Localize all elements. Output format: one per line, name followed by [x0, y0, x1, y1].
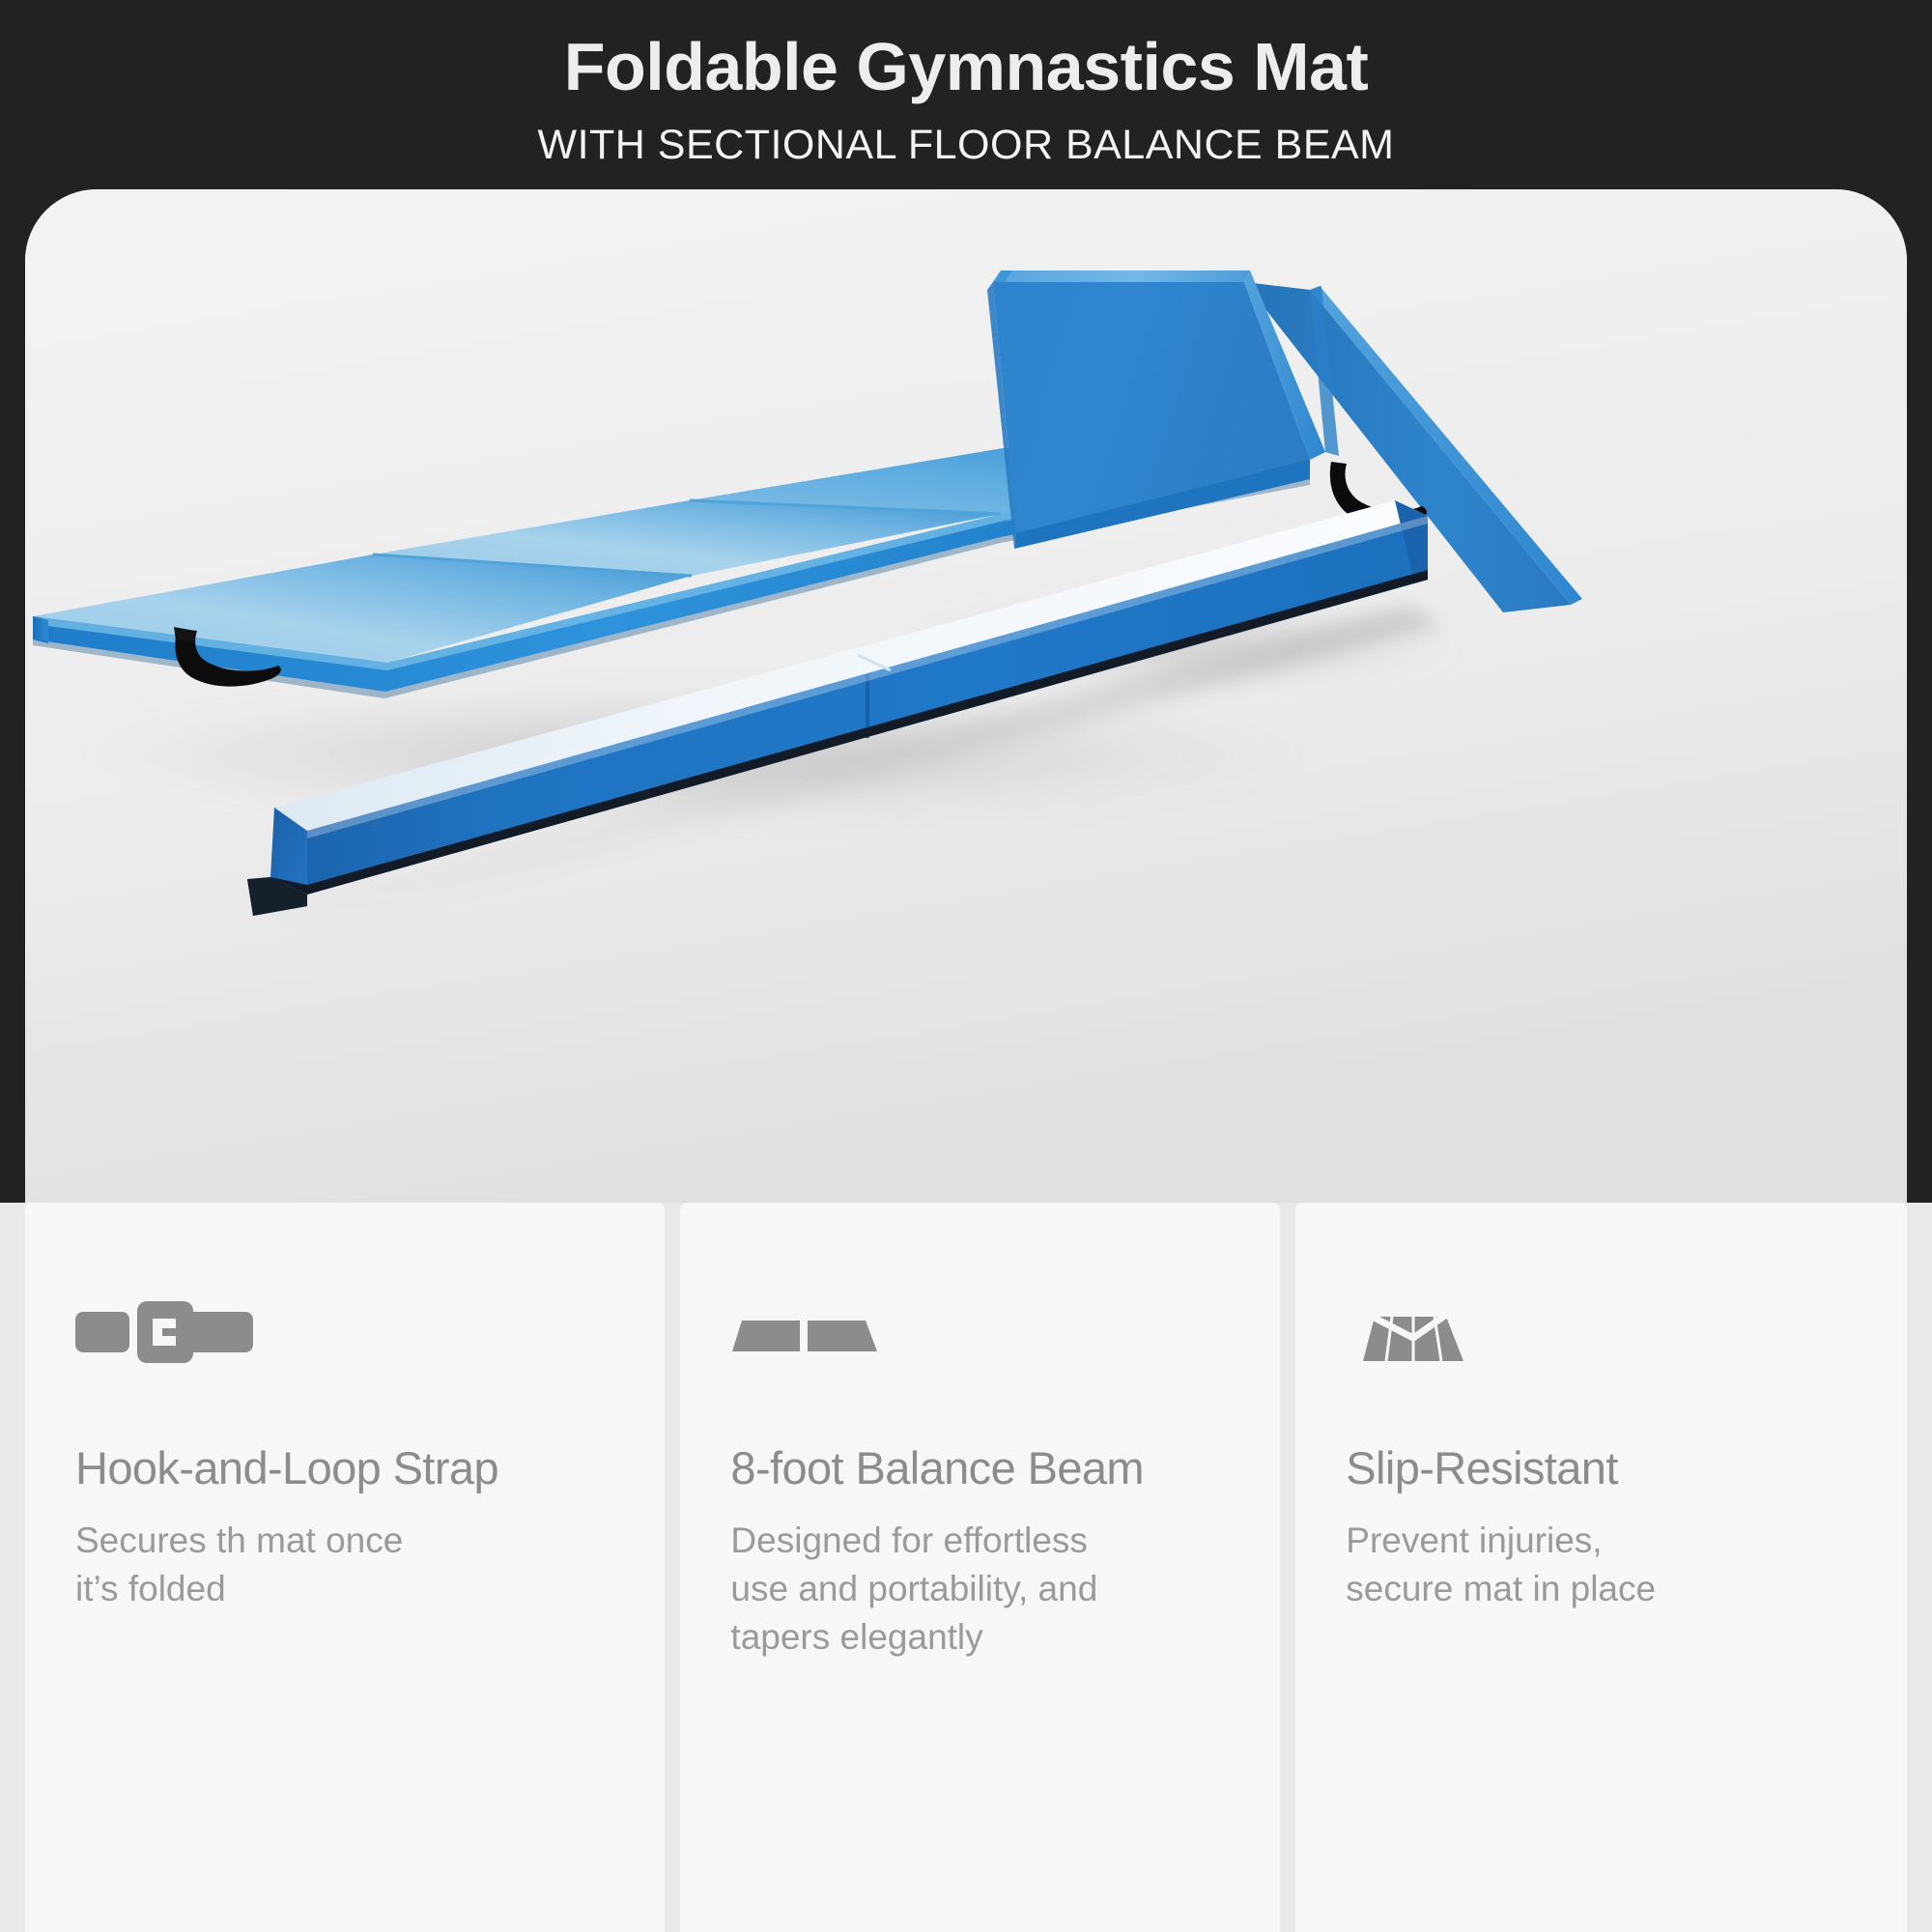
balance-beam-sections-icon: [730, 1299, 885, 1363]
product-photo-panel: [25, 189, 1907, 1208]
feature-cards-row: Hook-and-Loop Strap Secures th mat once …: [0, 1203, 1932, 1932]
feature-card-slip-resistant[interactable]: Slip-Resistant Prevent injuries, secure …: [1295, 1203, 1907, 1932]
page-subtitle: WITH SECTIONAL FLOOR BALANCE BEAM: [538, 122, 1395, 169]
hook-and-loop-strap-icon: [75, 1299, 253, 1363]
slip-resistant-mat-icon: [1346, 1299, 1481, 1363]
page-title: Foldable Gymnastics Mat: [564, 33, 1369, 100]
feature-card-body: Prevent injuries, secure mat in place: [1346, 1517, 1857, 1612]
aframe-apex-top-edge: [993, 270, 1250, 282]
product-illustration: [25, 189, 1907, 1208]
feature-card-title: Hook-and-Loop Strap: [75, 1444, 614, 1492]
infographic-page: Foldable Gymnastics Mat WITH SECTIONAL F…: [0, 0, 1932, 1932]
feature-card-body: Secures th mat once it’s folded: [75, 1517, 614, 1612]
feature-card-title: Slip-Resistant: [1346, 1444, 1857, 1492]
feature-card-balance-beam[interactable]: 8-foot Balance Beam Designed for effortl…: [680, 1203, 1280, 1932]
feature-card-hook-and-loop-strap[interactable]: Hook-and-Loop Strap Secures th mat once …: [25, 1203, 665, 1932]
mat-left-endcap: [33, 616, 48, 643]
feature-card-body: Designed for effortless use and portabil…: [730, 1517, 1230, 1661]
feature-card-title: 8-foot Balance Beam: [730, 1444, 1230, 1492]
